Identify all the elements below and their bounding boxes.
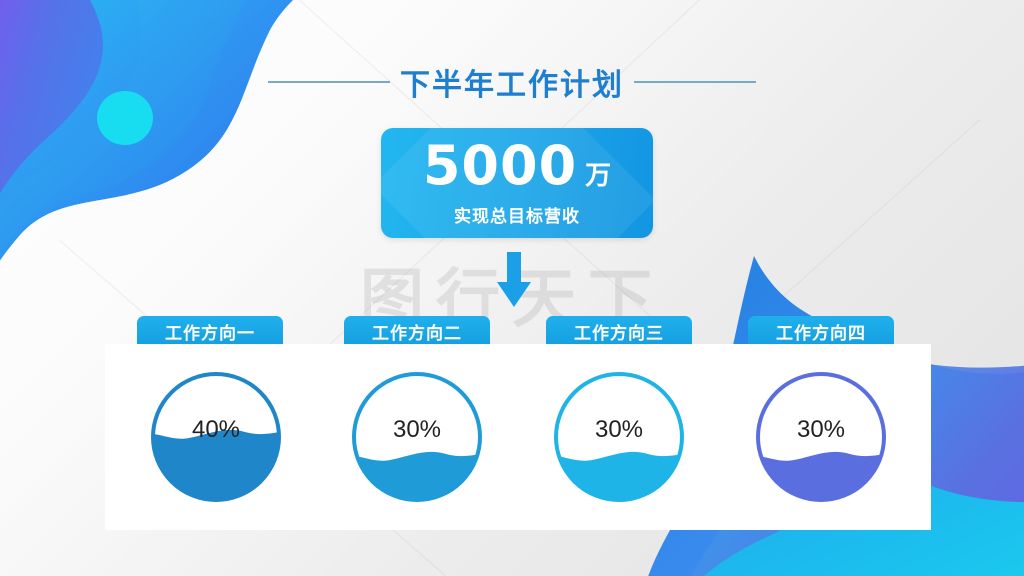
content-panel: 40% 30% (105, 344, 931, 530)
gauge-value-3: 30% (548, 416, 690, 444)
page-title: 下半年工作计划 (0, 60, 1024, 104)
tab-work-direction-3[interactable]: 工作方向三 (546, 316, 692, 346)
gauge-work-direction-4[interactable]: 30% (750, 366, 892, 508)
kpi-unit: 万 (585, 163, 611, 189)
gauge-value-4: 30% (750, 416, 892, 444)
gauge-value-1: 40% (145, 416, 287, 444)
gauge-work-direction-1[interactable]: 40% (145, 366, 287, 508)
kpi-card[interactable]: 5000 万 实现总目标营收 (381, 128, 653, 238)
tab-work-direction-4[interactable]: 工作方向四 (748, 316, 894, 346)
decorative-blob-top-left (0, 0, 380, 310)
gauge-work-direction-3[interactable]: 30% (548, 366, 690, 508)
title-rule-right (634, 81, 756, 83)
kpi-value-row: 5000 万 (423, 139, 611, 193)
kpi-subtitle: 实现总目标营收 (454, 202, 580, 227)
gauge-group: 40% 30% (105, 344, 931, 530)
gauge-work-direction-2[interactable]: 30% (346, 366, 488, 508)
arrow-down-icon (496, 252, 532, 308)
kpi-number: 5000 (423, 139, 577, 193)
title-label: 下半年工作计划 (400, 60, 624, 104)
title-rule-left (268, 81, 390, 83)
gauge-value-2: 30% (346, 416, 488, 444)
tab-work-direction-2[interactable]: 工作方向二 (344, 316, 490, 346)
slide-canvas: 图行天下 下半年工作计划 5000 万 实现总目标营收 工作方向一 工作方向二 … (0, 0, 1024, 576)
tab-work-direction-1[interactable]: 工作方向一 (137, 316, 283, 346)
